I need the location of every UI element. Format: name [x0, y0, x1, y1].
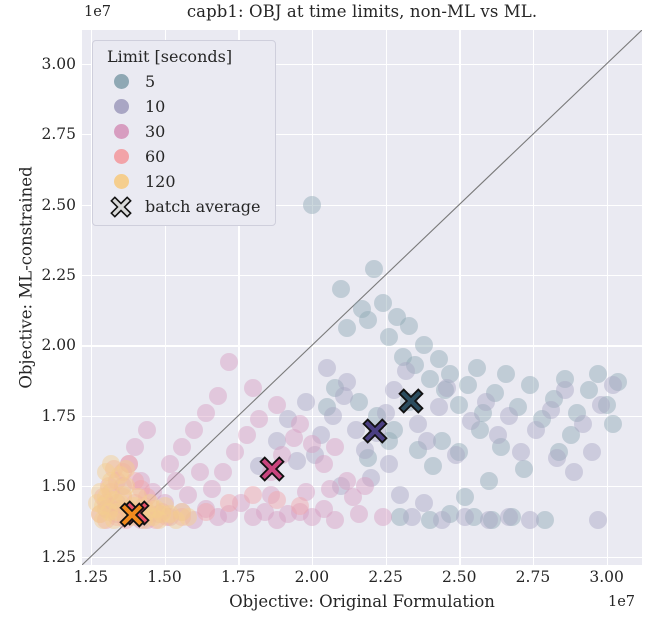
scatter-point — [318, 359, 336, 377]
scatter-point — [250, 410, 268, 428]
batch-average-marker — [362, 418, 388, 448]
scatter-point — [477, 393, 495, 411]
legend-item-60[interactable]: 60 — [103, 144, 261, 169]
scatter-point — [303, 435, 321, 453]
scatter-point — [468, 359, 486, 377]
legend-color-dot — [114, 149, 129, 164]
scatter-point — [374, 508, 392, 526]
legend-box: Limit [seconds] 5103060120batch average — [92, 40, 276, 226]
scatter-point — [415, 494, 433, 512]
scatter-point — [521, 511, 539, 529]
scatter-point — [315, 455, 333, 473]
scatter-point — [338, 319, 356, 337]
scatter-point — [297, 393, 315, 411]
x-tick-label: 3.00 — [567, 568, 647, 586]
scatter-point — [415, 336, 433, 354]
scatter-point — [102, 455, 120, 473]
legend-color-dot — [114, 174, 129, 189]
legend-color-dot — [114, 99, 129, 114]
scatter-point — [365, 260, 383, 278]
scatter-point — [244, 508, 262, 526]
batch-average-marker — [119, 502, 145, 532]
legend-item-label: 5 — [145, 72, 155, 91]
x-tick-label: 2.25 — [346, 568, 426, 586]
x-tick-label: 1.25 — [51, 568, 131, 586]
circle-swatch-icon — [103, 124, 139, 139]
scatter-point — [303, 196, 321, 214]
scatter-point — [456, 508, 474, 526]
scatter-point — [456, 488, 474, 506]
circle-swatch-icon — [103, 99, 139, 114]
scatter-point — [374, 294, 392, 312]
scatter-point — [209, 387, 227, 405]
scatter-point — [400, 317, 418, 335]
legend-item-batch-average[interactable]: batch average — [103, 194, 261, 219]
legend-item-label: 120 — [145, 172, 176, 191]
x-tick-label: 1.50 — [125, 568, 205, 586]
legend-item-label: 10 — [145, 97, 165, 116]
scatter-point — [179, 486, 197, 504]
x-tick-label: 2.75 — [493, 568, 573, 586]
scatter-point — [350, 505, 368, 523]
scatter-point — [324, 407, 342, 425]
scatter-point — [500, 508, 518, 526]
scatter-point — [604, 376, 622, 394]
scatter-point — [126, 438, 144, 456]
scatter-point — [359, 311, 377, 329]
scatter-point — [480, 511, 498, 529]
circle-swatch-icon — [103, 74, 139, 89]
scatter-point — [604, 415, 622, 433]
scatter-point — [244, 379, 262, 397]
figure-canvas: capb1: OBJ at time limits, non-ML vs ML.… — [0, 0, 652, 629]
scatter-point — [542, 401, 560, 419]
scatter-point — [197, 503, 215, 521]
scatter-point — [191, 463, 209, 481]
scatter-point — [220, 494, 238, 512]
scatter-point — [326, 438, 344, 456]
scatter-point — [356, 477, 374, 495]
circle-swatch-icon — [103, 174, 139, 189]
x-axis-tick-labels: 1.251.501.752.002.252.502.753.00 — [82, 568, 642, 592]
legend-title: Limit [seconds] — [107, 47, 261, 66]
legend-item-120[interactable]: 120 — [103, 169, 261, 194]
scatter-point — [521, 376, 539, 394]
scatter-point — [556, 381, 574, 399]
x-cross-icon — [103, 196, 139, 218]
scatter-point — [512, 443, 530, 461]
chart-title: capb1: OBJ at time limits, non-ML vs ML. — [82, 2, 642, 21]
legend-color-dot — [114, 74, 129, 89]
batch-average-marker — [398, 388, 424, 418]
scatter-point — [338, 373, 356, 391]
scatter-point — [291, 415, 309, 433]
scatter-point — [583, 443, 601, 461]
scatter-point — [321, 480, 339, 498]
x-axis-label: Objective: Original Formulation — [82, 592, 642, 611]
scatter-point — [438, 379, 456, 397]
scatter-point — [589, 511, 607, 529]
scatter-point — [433, 511, 451, 529]
scatter-point — [338, 472, 356, 490]
legend-item-30[interactable]: 30 — [103, 119, 261, 144]
scatter-point — [459, 376, 477, 394]
scatter-point — [315, 500, 333, 518]
scatter-point — [489, 426, 507, 444]
scatter-point — [430, 398, 448, 416]
scatter-point — [203, 480, 221, 498]
scatter-point — [447, 446, 465, 464]
scatter-point — [167, 472, 185, 490]
scatter-point — [391, 486, 409, 504]
scatter-point — [592, 396, 610, 414]
scatter-point — [380, 455, 398, 473]
scatter-point — [565, 463, 583, 481]
scatter-point — [291, 497, 309, 515]
scatter-point — [197, 404, 215, 422]
scatter-point — [574, 415, 592, 433]
legend-color-dot — [114, 124, 129, 139]
scatter-point — [515, 460, 533, 478]
x-tick-label: 1.75 — [198, 568, 278, 586]
scatter-point — [244, 486, 262, 504]
x-tick-label: 2.00 — [272, 568, 352, 586]
scatter-point — [397, 362, 415, 380]
y-axis-tick-labels: 1.251.501.752.002.252.502.753.00 — [4, 30, 76, 565]
scatter-point — [527, 421, 545, 439]
legend-items: 5103060120batch average — [103, 69, 261, 219]
y-axis-label: Objective: ML-constrained — [17, 0, 36, 558]
scatter-point — [497, 365, 515, 383]
batch-average-marker — [259, 456, 285, 486]
scatter-point — [380, 328, 398, 346]
scatter-point — [500, 407, 518, 425]
y-axis-offset-exponent: 1e7 — [84, 4, 111, 20]
scatter-point — [161, 455, 179, 473]
scatter-point — [418, 432, 436, 450]
legend-item-label: batch average — [145, 197, 261, 216]
scatter-point — [268, 491, 286, 509]
scatter-point — [185, 421, 203, 439]
scatter-point — [91, 483, 109, 501]
scatter-point — [173, 438, 191, 456]
scatter-point — [424, 457, 442, 475]
scatter-point — [268, 396, 286, 414]
scatter-point — [268, 511, 286, 529]
legend-item-10[interactable]: 10 — [103, 94, 261, 119]
scatter-point — [226, 443, 244, 461]
x-tick-label: 2.50 — [419, 568, 499, 586]
scatter-point — [138, 421, 156, 439]
scatter-point — [480, 472, 498, 490]
legend-item-label: 60 — [145, 147, 165, 166]
scatter-point — [220, 353, 238, 371]
scatter-point — [450, 396, 468, 414]
scatter-point — [332, 280, 350, 298]
scatter-point — [214, 463, 232, 481]
legend-item-5[interactable]: 5 — [103, 69, 261, 94]
legend-item-label: 30 — [145, 122, 165, 141]
scatter-point — [462, 412, 480, 430]
circle-swatch-icon — [103, 149, 139, 164]
scatter-point — [179, 508, 197, 526]
scatter-point — [548, 449, 566, 467]
scatter-point — [238, 426, 256, 444]
